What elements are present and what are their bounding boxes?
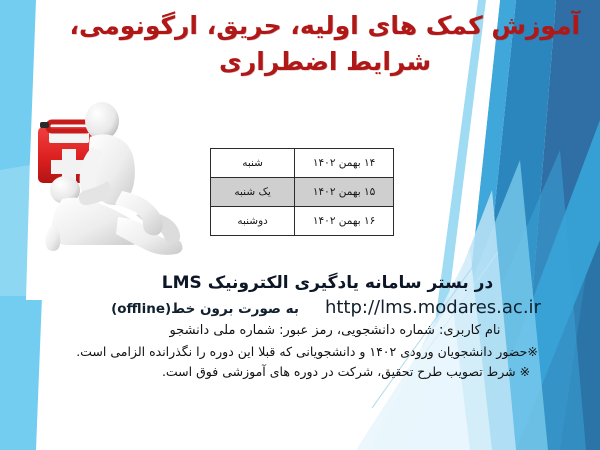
credentials-line: نام کاربری: شماره دانشجویی، رمز عبور: شم… bbox=[0, 321, 600, 341]
cell-day: شنبه bbox=[211, 149, 295, 178]
first-aid-illustration bbox=[18, 95, 203, 260]
offline-note: به صورت برون خط(offline) bbox=[111, 301, 299, 317]
table-row: ۱۵ بهمن ۱۴۰۲ یک شنبه bbox=[211, 178, 394, 207]
table-row: ۱۶ بهمن ۱۴۰۲ دوشنبه bbox=[211, 207, 394, 236]
cell-day: یک شنبه bbox=[211, 178, 295, 207]
schedule-table: ۱۴ بهمن ۱۴۰۲ شنبه ۱۵ بهمن ۱۴۰۲ یک شنبه ۱… bbox=[210, 148, 394, 236]
body-text-block: در بستر سامانه یادگیری الکترونیک LMS به … bbox=[0, 272, 600, 381]
cell-date: ۱۴ بهمن ۱۴۰۲ bbox=[295, 149, 394, 178]
platform-line: در بستر سامانه یادگیری الکترونیک LMS bbox=[0, 272, 600, 295]
lms-url-link[interactable]: http://lms.modares.ac.ir bbox=[325, 297, 541, 318]
note-line-2: ※ شرط تصویب طرح تحقیق، شرکت در دوره های … bbox=[0, 362, 600, 381]
cell-day: دوشنبه bbox=[211, 207, 295, 236]
url-row: به صورت برون خط(offline) http://lms.moda… bbox=[0, 297, 600, 318]
note-line-1: ※حضور دانشجویان ورودی ۱۴۰۲ و دانشجویانی … bbox=[0, 342, 600, 361]
title-line-1: آموزش کمک های اولیه، حریق، ارگونومی، bbox=[70, 8, 580, 44]
title-line-2: شرایط اضطراری bbox=[70, 44, 580, 80]
slide-title: آموزش کمک های اولیه، حریق، ارگونومی، شرا… bbox=[70, 8, 580, 79]
slide-canvas: آموزش کمک های اولیه، حریق، ارگونومی، شرا… bbox=[0, 0, 600, 450]
cell-date: ۱۶ بهمن ۱۴۰۲ bbox=[295, 207, 394, 236]
table-row: ۱۴ بهمن ۱۴۰۲ شنبه bbox=[211, 149, 394, 178]
cell-date: ۱۵ بهمن ۱۴۰۲ bbox=[295, 178, 394, 207]
